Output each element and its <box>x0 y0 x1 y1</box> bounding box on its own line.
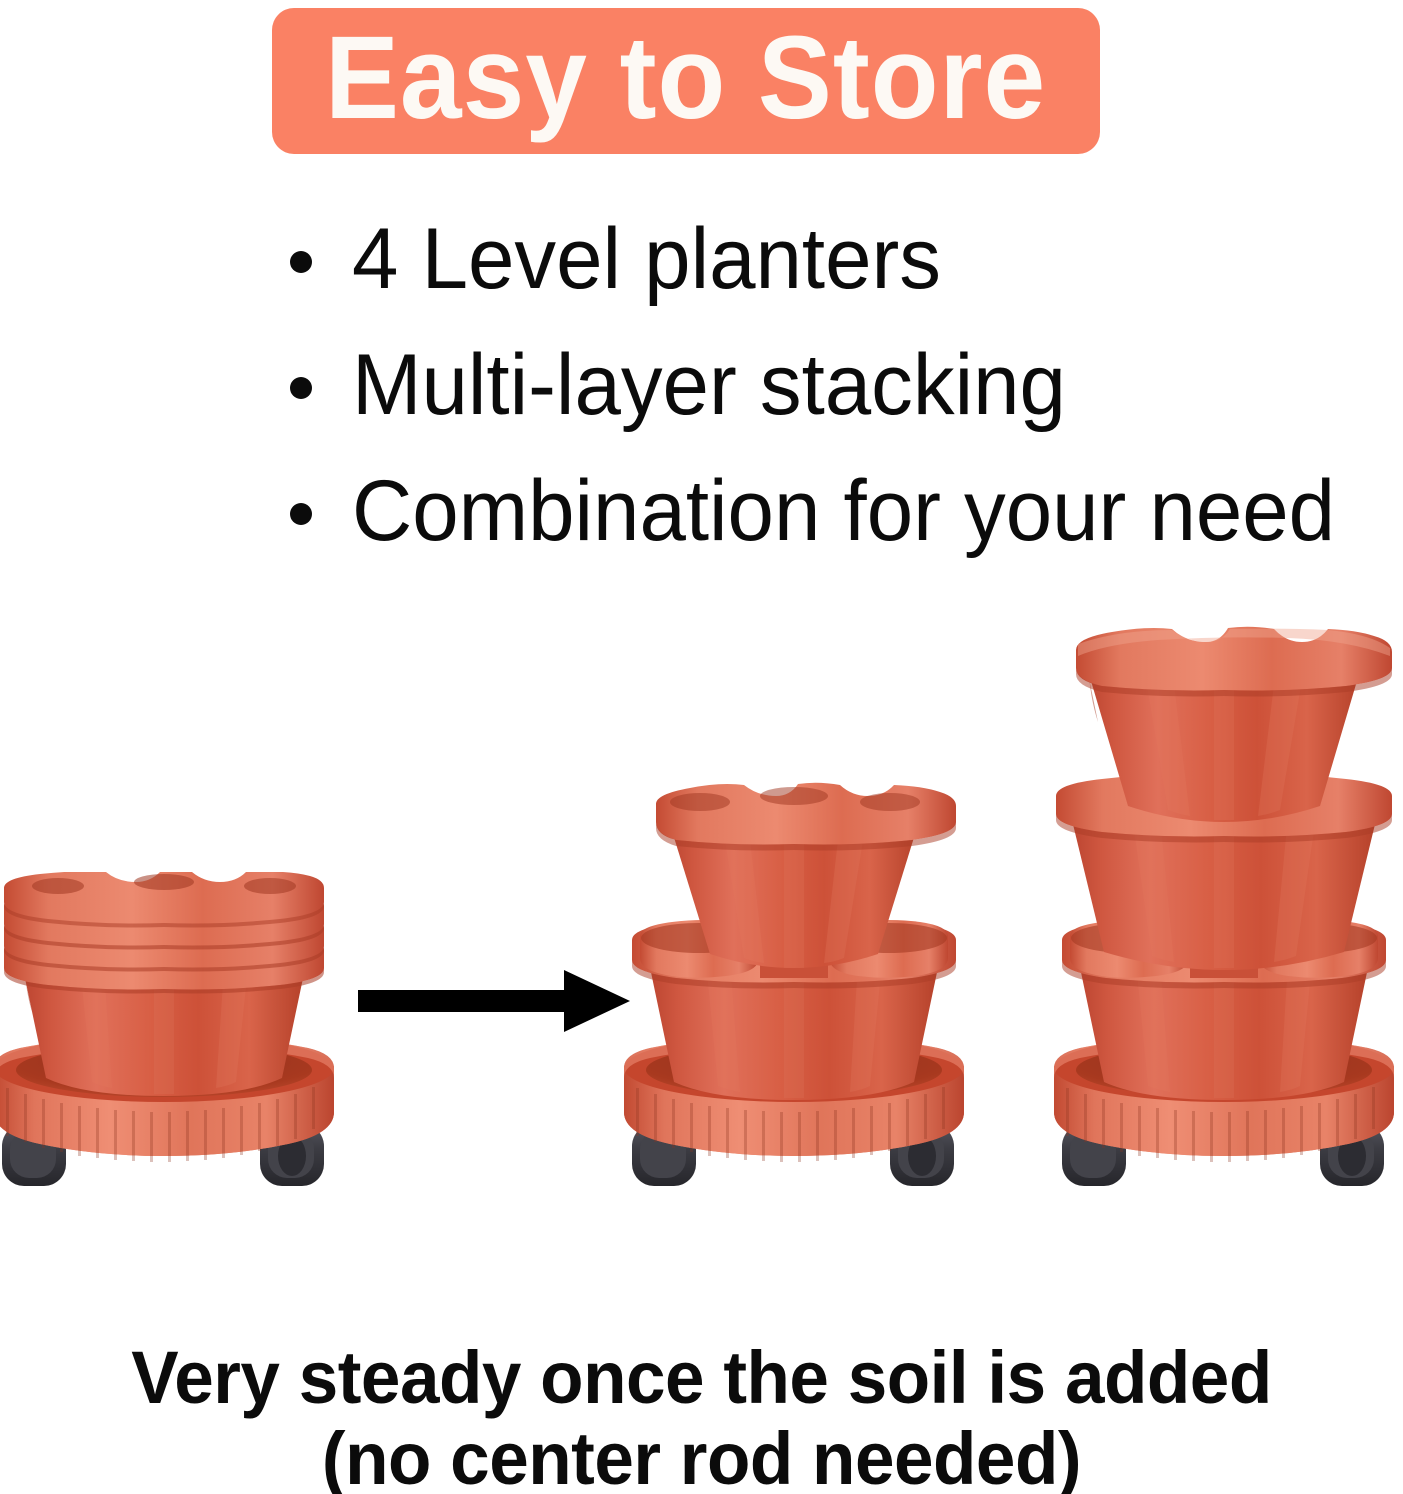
bottom-caption: Very steady once the soil is added (no c… <box>0 1338 1403 1494</box>
list-item: Multi-layer stacking <box>290 322 1370 448</box>
three-tier-planter-illustration <box>1048 622 1400 1202</box>
bullet-dot-icon <box>290 503 312 525</box>
planter-rim-top <box>1076 627 1392 697</box>
caption-line-1: Very steady once the soil is added <box>28 1338 1375 1419</box>
product-three-tier-stack <box>1048 622 1400 1202</box>
bullet-dot-icon <box>290 251 312 273</box>
bullet-dot-icon <box>290 377 312 399</box>
right-arrow-icon <box>358 970 630 1032</box>
nested-rims <box>4 872 324 994</box>
feature-label: Combination for your need <box>352 468 1335 554</box>
page-title: Easy to Store <box>325 19 1046 137</box>
feature-label: 4 Level planters <box>352 216 941 302</box>
two-tier-planter-illustration <box>618 782 970 1202</box>
caption-line-2: (no center rod needed) <box>28 1419 1375 1494</box>
product-comparison-scene <box>0 600 1403 1240</box>
feature-bullet-list: 4 Level planters Multi-layer stacking Co… <box>290 196 1370 574</box>
feature-label: Multi-layer stacking <box>352 342 1066 428</box>
title-banner: Easy to Store <box>272 8 1100 154</box>
nested-planters-illustration <box>0 872 340 1202</box>
product-two-tier-stack <box>618 782 970 1202</box>
planter-rim-upper <box>656 783 956 851</box>
list-item: 4 Level planters <box>290 196 1370 322</box>
product-nested-planters <box>0 872 340 1202</box>
infographic-page: Easy to Store 4 Level planters Multi-lay… <box>0 0 1403 1494</box>
list-item: Combination for your need <box>290 448 1370 574</box>
